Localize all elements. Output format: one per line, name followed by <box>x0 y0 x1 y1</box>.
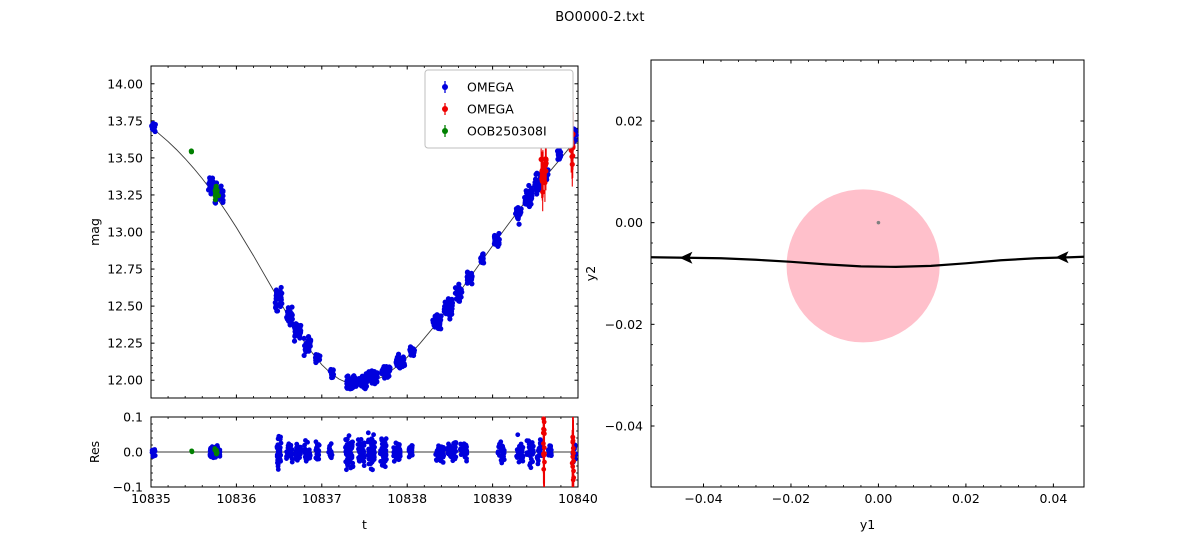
residual-point <box>542 453 547 458</box>
residual-point <box>515 454 520 459</box>
legend-marker-icon <box>442 106 448 112</box>
x-tick-label: −0.02 <box>772 491 810 506</box>
x-tick-label: 0.00 <box>865 491 893 506</box>
data-point <box>456 298 461 303</box>
y-tick-label: 12.00 <box>107 373 143 388</box>
data-point <box>213 194 218 199</box>
residual-point <box>366 440 371 445</box>
residual-point <box>367 457 372 462</box>
y-axis-label-y2: y2 <box>583 266 598 281</box>
residual-point <box>382 463 387 468</box>
residual-point <box>383 452 388 457</box>
residual-point <box>520 445 525 450</box>
data-point <box>345 386 350 391</box>
y-tick-label: 12.75 <box>107 262 143 277</box>
x-axis-label-t: t <box>362 517 367 532</box>
data-point <box>434 312 439 317</box>
data-point <box>446 296 451 301</box>
data-point <box>213 186 218 191</box>
data-point <box>408 352 413 357</box>
residual-point <box>303 455 308 460</box>
residual-point <box>348 451 353 456</box>
residual-point <box>351 464 356 469</box>
residual-point <box>344 467 349 472</box>
data-point <box>292 338 297 343</box>
data-point <box>444 307 449 312</box>
y-tick-label: 13.75 <box>107 113 143 128</box>
data-point <box>189 148 194 153</box>
residual-point <box>214 452 219 457</box>
x-axis-label-y1: y1 <box>860 517 875 532</box>
y-tick-label: 12.25 <box>107 336 143 351</box>
residual-point <box>525 451 530 456</box>
lightcurve-series-0[interactable] <box>149 121 579 392</box>
residual-point <box>548 445 553 450</box>
data-point <box>466 273 471 278</box>
data-point <box>447 316 452 321</box>
lightcurve-series-2[interactable] <box>189 148 221 202</box>
residual-point <box>277 456 282 461</box>
y-tick-label: 12.50 <box>107 299 143 314</box>
data-point <box>370 376 375 381</box>
residual-point <box>150 450 155 455</box>
residual-point <box>303 438 308 443</box>
data-point <box>315 353 320 358</box>
residual-point <box>369 466 374 471</box>
residual-point <box>535 456 540 461</box>
data-point <box>278 289 283 294</box>
residual-point <box>372 445 377 450</box>
residual-point <box>189 448 194 453</box>
residual-point <box>314 452 319 457</box>
residual-point <box>542 420 547 425</box>
residual-point <box>531 450 536 455</box>
data-point <box>396 355 401 360</box>
data-point <box>351 381 356 386</box>
legend-label: OMEGA <box>467 102 514 117</box>
residual-point <box>453 449 458 454</box>
residual-point <box>288 443 293 448</box>
data-point <box>273 305 278 310</box>
residual-point <box>297 445 302 450</box>
residual-point <box>368 461 373 466</box>
data-point <box>294 322 299 327</box>
residual-point <box>519 458 524 463</box>
data-point <box>515 208 520 213</box>
residual-point <box>530 440 535 445</box>
data-point <box>306 334 311 339</box>
residual-point <box>499 458 504 463</box>
residual-point <box>571 459 576 464</box>
residual-point <box>276 467 281 472</box>
data-point <box>399 361 404 366</box>
data-point <box>208 182 213 187</box>
model-curve <box>151 127 578 385</box>
data-point <box>152 129 157 134</box>
data-point <box>527 200 532 205</box>
residual-point <box>359 443 364 448</box>
x-tick-label: 10836 <box>217 491 257 506</box>
legend-label: OOB250308I <box>467 124 547 139</box>
y-tick-label: 13.50 <box>107 150 143 165</box>
residual-point <box>209 454 214 459</box>
data-point <box>292 334 297 339</box>
residual-point <box>549 453 554 458</box>
residual-point <box>407 445 412 450</box>
data-point <box>385 366 390 371</box>
residual-point <box>347 442 352 447</box>
residual-point <box>407 449 412 454</box>
y-axis-label-mag: mag <box>87 218 102 246</box>
residual-point <box>330 453 335 458</box>
residual-point <box>359 437 364 442</box>
data-point <box>383 372 388 377</box>
residual-point <box>396 457 401 462</box>
lens-position-marker <box>877 221 881 225</box>
residual-point <box>315 442 320 447</box>
data-point <box>219 183 224 188</box>
residual-point <box>278 448 283 453</box>
residual-point <box>313 448 318 453</box>
residual-point <box>446 442 451 447</box>
legend[interactable]: OMEGAOMEGAOOB250308I <box>425 70 573 148</box>
residual-point <box>392 448 397 453</box>
data-point <box>516 222 521 227</box>
residual-point <box>275 442 280 447</box>
data-point <box>286 317 291 322</box>
data-point <box>330 372 335 377</box>
data-point <box>527 192 532 197</box>
data-point <box>302 343 307 348</box>
y-tick-label: −0.02 <box>605 317 643 332</box>
y-tick-label: 0.1 <box>123 410 143 425</box>
y-tick-label: 14.00 <box>107 76 143 91</box>
y-tick-label: 13.00 <box>107 225 143 240</box>
residual-point <box>439 456 444 461</box>
data-point <box>209 177 214 182</box>
residual-point <box>527 446 532 451</box>
residual-point <box>439 444 444 449</box>
data-point <box>362 379 367 384</box>
residual-point <box>278 435 283 440</box>
data-point <box>532 183 537 188</box>
residual-point <box>382 448 387 453</box>
residual-series-2[interactable] <box>189 446 219 456</box>
data-point <box>316 357 321 362</box>
residual-point <box>293 451 298 456</box>
legend-marker-icon <box>442 84 448 90</box>
residual-point <box>275 460 280 465</box>
residual-point <box>434 457 439 462</box>
y-tick-label: −0.1 <box>113 480 143 495</box>
geometry-axes: −0.04−0.020.000.020.04−0.04−0.020.000.02… <box>583 60 1084 532</box>
data-point <box>569 154 574 159</box>
data-point <box>436 326 441 331</box>
data-point <box>301 336 306 341</box>
data-point <box>479 259 484 264</box>
residual-point <box>515 432 520 437</box>
residual-point <box>347 433 352 438</box>
data-point <box>287 322 292 327</box>
residual-point <box>383 440 388 445</box>
y-axis-label-res: Res <box>87 441 102 463</box>
data-point <box>350 376 355 381</box>
data-point <box>454 289 459 294</box>
residual-point <box>407 455 412 460</box>
residual-point <box>368 451 373 456</box>
x-tick-label: 10839 <box>473 491 513 506</box>
residual-point <box>537 446 542 451</box>
x-tick-label: 10837 <box>302 491 342 506</box>
x-tick-label: 10838 <box>387 491 427 506</box>
data-point <box>302 353 307 358</box>
residual-point <box>451 456 456 461</box>
data-point <box>356 379 361 384</box>
y-tick-label: −0.04 <box>605 419 643 434</box>
data-point <box>436 318 441 323</box>
residual-point <box>498 443 503 448</box>
x-tick-label: −0.04 <box>684 491 722 506</box>
legend-label: OMEGA <box>467 80 514 95</box>
residual-point <box>346 460 351 465</box>
residual-axes: 108351083610837108381083910840−0.10.00.1… <box>87 410 598 533</box>
residual-point <box>393 453 398 458</box>
y-tick-label: 0.00 <box>615 215 643 230</box>
residual-point <box>527 463 532 468</box>
x-tick-label: 10840 <box>558 491 598 506</box>
residual-point <box>502 451 507 456</box>
residual-point <box>449 446 454 451</box>
data-point <box>152 124 157 129</box>
plot-canvas: 12.0012.2512.5012.7513.0013.2513.5013.75… <box>0 0 1200 550</box>
residual-point <box>306 450 311 455</box>
data-point <box>555 148 560 153</box>
matplotlib-figure: BO0000-2.txt 12.0012.2512.5012.7513.0013… <box>0 0 1200 550</box>
residual-point <box>366 430 371 435</box>
data-point <box>275 296 280 301</box>
x-tick-label: 0.04 <box>1039 491 1067 506</box>
residual-point <box>439 449 444 454</box>
residual-point <box>294 457 299 462</box>
data-point <box>516 213 521 218</box>
residual-point <box>362 463 367 468</box>
figure-title: BO0000-2.txt <box>0 10 1200 25</box>
y-tick-label: 0.0 <box>123 445 143 460</box>
data-point <box>481 251 486 256</box>
residual-point <box>286 452 291 457</box>
y-tick-label: 0.02 <box>615 114 643 129</box>
data-point <box>543 168 548 173</box>
x-tick-label: 0.02 <box>952 491 980 506</box>
residual-point <box>380 458 385 463</box>
data-point <box>533 172 538 177</box>
data-point <box>345 381 350 386</box>
y-tick-label: 13.25 <box>107 187 143 202</box>
legend-marker-icon <box>442 128 448 134</box>
residual-point <box>463 454 468 459</box>
data-point <box>556 156 561 161</box>
data-point <box>494 236 499 241</box>
data-point <box>207 187 212 192</box>
residual-point <box>461 446 466 451</box>
residual-point <box>212 446 217 451</box>
